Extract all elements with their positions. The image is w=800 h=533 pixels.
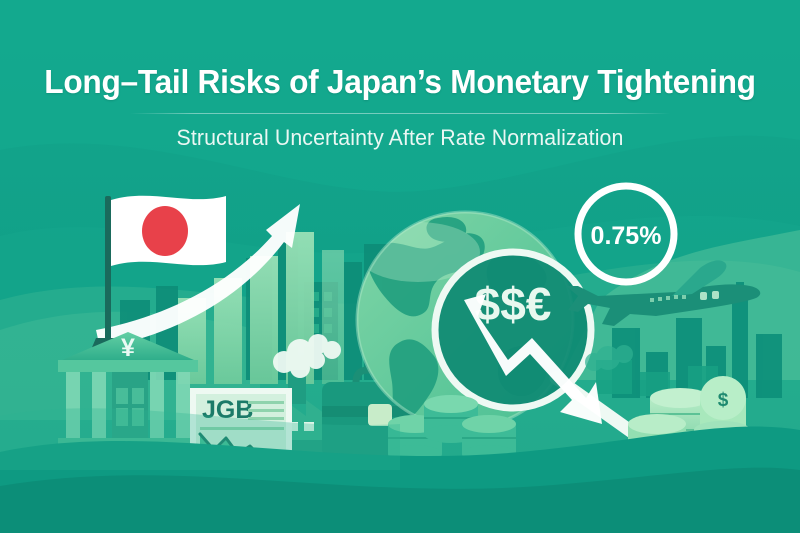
flag-disc	[142, 206, 188, 256]
currency-symbols: $$€	[475, 278, 552, 330]
header: Long–Tail Risks of Japan’s Monetary Tigh…	[0, 0, 800, 151]
rate-badge-value: 0.75%	[591, 222, 662, 250]
infographic-canvas: ¥	[0, 0, 800, 533]
header-divider	[130, 113, 670, 114]
bank-yen-symbol: ¥	[121, 334, 135, 362]
coin-dollar-symbol: $	[718, 390, 729, 411]
page-title: Long–Tail Risks of Japan’s Monetary Tigh…	[16, 63, 784, 101]
page-subtitle: Structural Uncertainty After Rate Normal…	[12, 125, 788, 151]
